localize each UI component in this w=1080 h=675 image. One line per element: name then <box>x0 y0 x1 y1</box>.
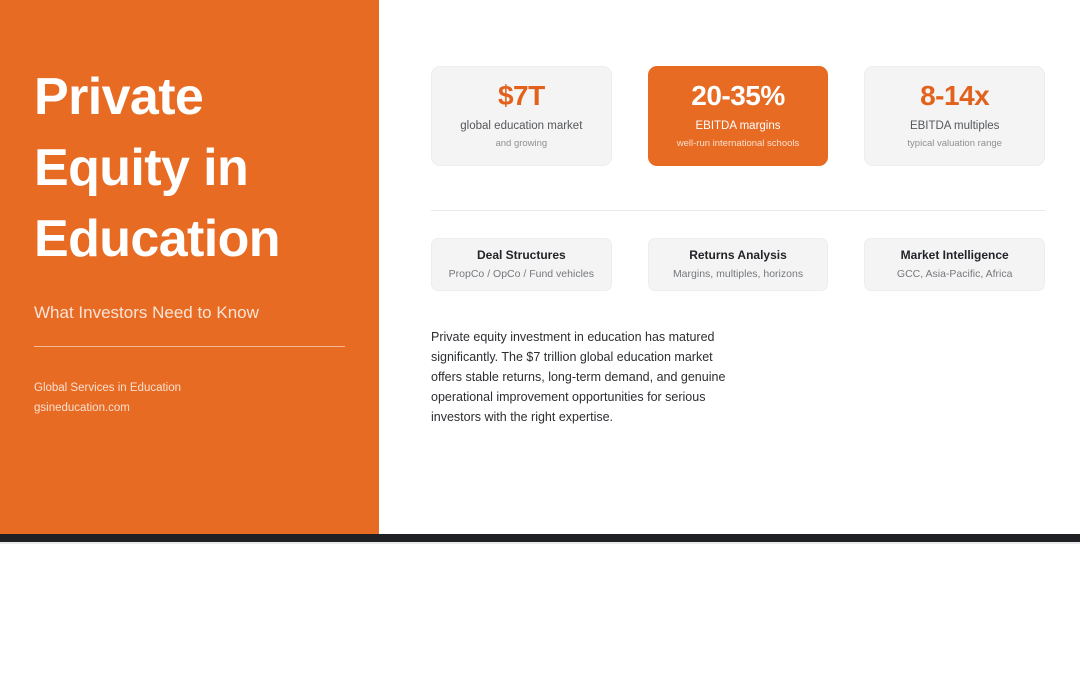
stat-card-row: $7T global education market and growing … <box>431 66 1045 166</box>
topic-subtitle: GCC, Asia-Pacific, Africa <box>897 268 1013 281</box>
stat-label: EBITDA margins <box>696 119 781 133</box>
content-panel: $7T global education market and growing … <box>379 0 1080 534</box>
panel-footer: Global Services in Education gsineducati… <box>34 378 345 418</box>
section-divider <box>431 210 1045 211</box>
page-title: Private Equity in Education <box>34 62 345 276</box>
topic-subtitle: PropCo / OpCo / Fund vehicles <box>449 268 594 281</box>
stat-card: 8-14x EBITDA multiples typical valuation… <box>864 66 1045 166</box>
stat-value: $7T <box>498 82 545 110</box>
topic-card-returns-analysis[interactable]: Returns Analysis Margins, multiples, hor… <box>648 238 829 291</box>
stat-label: global education market <box>460 119 582 133</box>
stat-value: 8-14x <box>920 82 989 110</box>
stat-card-highlighted: 20-35% EBITDA margins well-run internati… <box>648 66 829 166</box>
slide-root: Private Equity in Education What Investo… <box>0 0 1080 675</box>
topic-card-deal-structures[interactable]: Deal Structures PropCo / OpCo / Fund veh… <box>431 238 612 291</box>
topic-title: Deal Structures <box>477 248 566 262</box>
title-divider <box>34 346 345 347</box>
topic-title: Returns Analysis <box>689 248 787 262</box>
topic-title: Market Intelligence <box>901 248 1009 262</box>
stat-value: 20-35% <box>691 82 785 110</box>
organization-name: Global Services in Education <box>34 378 345 398</box>
stat-sublabel: well-run international schools <box>677 138 800 149</box>
stat-card: $7T global education market and growing <box>431 66 612 166</box>
topic-card-row: Deal Structures PropCo / OpCo / Fund veh… <box>431 238 1045 291</box>
stat-sublabel: typical valuation range <box>907 138 1002 149</box>
title-block: Private Equity in Education What Investo… <box>34 62 345 418</box>
topic-subtitle: Margins, multiples, horizons <box>673 268 803 281</box>
topic-card-market-intelligence[interactable]: Market Intelligence GCC, Asia-Pacific, A… <box>864 238 1045 291</box>
slide-subtitle: What Investors Need to Know <box>34 302 345 324</box>
website-url[interactable]: gsineducation.com <box>34 398 345 418</box>
body-paragraph: Private equity investment in education h… <box>431 327 741 427</box>
presentation-slide: Private Equity in Education What Investo… <box>0 0 1080 534</box>
stat-label: EBITDA multiples <box>910 119 999 133</box>
stat-sublabel: and growing <box>495 138 547 149</box>
title-panel: Private Equity in Education What Investo… <box>0 0 379 534</box>
page-background-below-slide <box>0 544 1080 675</box>
slide-bottom-band <box>0 534 1080 542</box>
